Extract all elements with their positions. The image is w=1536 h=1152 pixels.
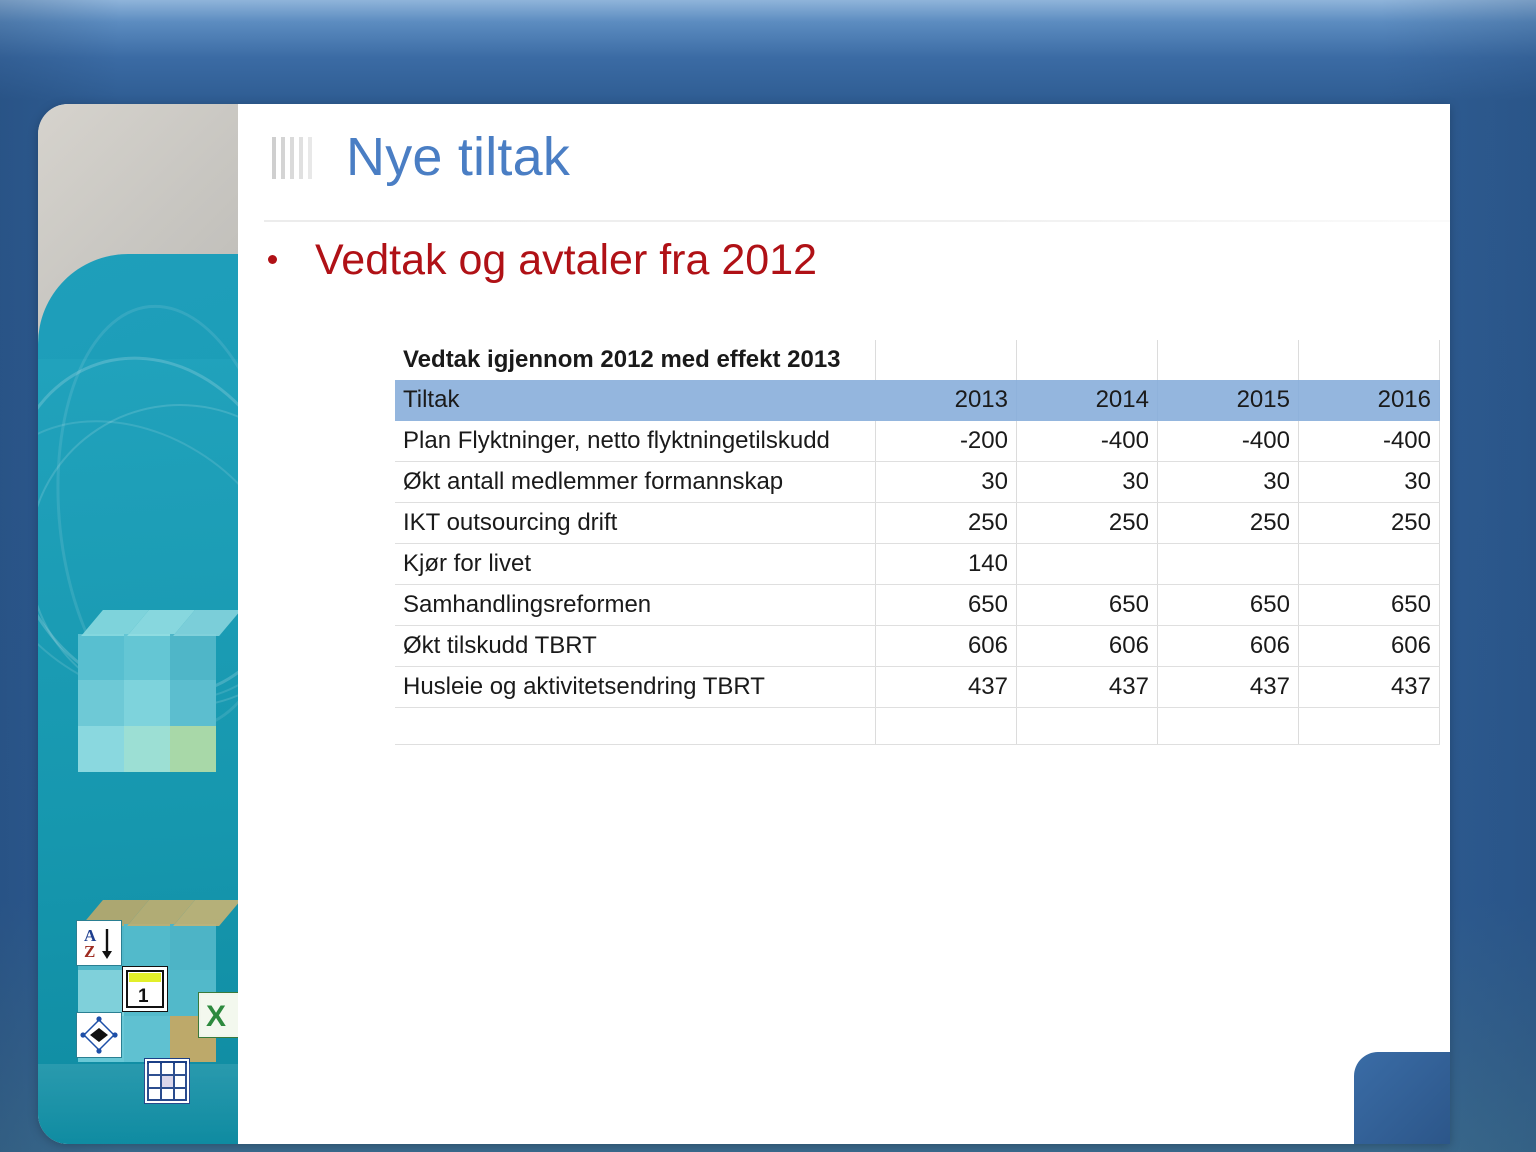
row-value: 437 — [1157, 667, 1298, 708]
row-value: 30 — [1016, 462, 1157, 503]
bullet-item-label: Vedtak og avtaler fra 2012 — [315, 236, 817, 284]
row-value: 650 — [876, 585, 1017, 626]
cube-illustration: A Z 1 — [38, 604, 238, 1144]
svg-text:X: X — [206, 1000, 226, 1033]
cube-reflection — [38, 1064, 238, 1144]
calendar-icon: 1 — [122, 966, 168, 1012]
row-label: Kjør for livet — [395, 544, 876, 585]
row-value: 250 — [1016, 503, 1157, 544]
row-value — [876, 708, 1017, 745]
row-value: -400 — [1016, 421, 1157, 462]
column-header-2016: 2016 — [1298, 380, 1439, 421]
row-label: IKT outsourcing drift — [395, 503, 876, 544]
column-header-2014: 2014 — [1016, 380, 1157, 421]
row-value: 250 — [1157, 503, 1298, 544]
table-row: Husleie og aktivitetsendring TBRT 437 43… — [395, 667, 1440, 708]
row-value: -200 — [876, 421, 1017, 462]
row-value: 606 — [1016, 626, 1157, 667]
row-value: 437 — [1298, 667, 1439, 708]
table-row: IKT outsourcing drift 250 250 250 250 — [395, 503, 1440, 544]
row-value: 30 — [1157, 462, 1298, 503]
table-row: Plan Flyktninger, netto flyktningetilsku… — [395, 421, 1440, 462]
caption-spacer-3 — [1157, 340, 1298, 380]
excel-x-icon: X — [198, 992, 238, 1038]
row-value: 650 — [1157, 585, 1298, 626]
svg-text:Z: Z — [84, 942, 95, 961]
row-label: Samhandlingsreformen — [395, 585, 876, 626]
tick-marks-icon — [272, 137, 312, 179]
row-label: Husleie og aktivitetsendring TBRT — [395, 667, 876, 708]
row-value — [1157, 544, 1298, 585]
row-value: 650 — [1298, 585, 1439, 626]
caption-spacer-1 — [876, 340, 1017, 380]
row-value — [1298, 708, 1439, 745]
row-value: 650 — [1016, 585, 1157, 626]
row-label: Økt antall medlemmer formannskap — [395, 462, 876, 503]
presentation-backdrop: A Z 1 — [0, 0, 1536, 1152]
row-value: 250 — [876, 503, 1017, 544]
row-value: 606 — [1298, 626, 1439, 667]
sort-az-icon: A Z — [76, 920, 122, 966]
measures-table: Vedtak igjennom 2012 med effekt 2013 Til… — [395, 340, 1440, 745]
slide-corner-accent — [1354, 1052, 1450, 1144]
slide-decoration-panel: A Z 1 — [38, 104, 238, 1144]
slide-title-row: Nye tiltak — [272, 112, 570, 202]
table-row: Økt tilskudd TBRT 606 606 606 606 — [395, 626, 1440, 667]
row-value: -400 — [1298, 421, 1439, 462]
table-row — [395, 708, 1440, 745]
table-header-row: Tiltak 2013 2014 2015 2016 — [395, 380, 1440, 421]
bullet-dot-icon — [268, 255, 277, 264]
table-row: Økt antall medlemmer formannskap 30 30 3… — [395, 462, 1440, 503]
caption-spacer-2 — [1016, 340, 1157, 380]
table-row: Kjør for livet 140 — [395, 544, 1440, 585]
row-value: 30 — [1298, 462, 1439, 503]
checker-icon — [76, 1012, 122, 1058]
table-row: Samhandlingsreformen 650 650 650 650 — [395, 585, 1440, 626]
row-value: 437 — [1016, 667, 1157, 708]
caption-spacer-4 — [1298, 340, 1439, 380]
table-caption-row: Vedtak igjennom 2012 med effekt 2013 — [395, 340, 1440, 380]
slide-canvas: A Z 1 — [38, 104, 1450, 1144]
row-value: 30 — [876, 462, 1017, 503]
row-value — [1298, 544, 1439, 585]
row-value: 250 — [1298, 503, 1439, 544]
row-value — [1016, 708, 1157, 745]
table-caption: Vedtak igjennom 2012 med effekt 2013 — [395, 340, 876, 380]
row-value: 606 — [876, 626, 1017, 667]
row-value: 140 — [876, 544, 1017, 585]
svg-text:1: 1 — [138, 986, 149, 1007]
row-value: -400 — [1157, 421, 1298, 462]
title-divider — [264, 220, 1450, 222]
row-label: Plan Flyktninger, netto flyktningetilsku… — [395, 421, 876, 462]
column-header-2013: 2013 — [876, 380, 1017, 421]
measures-table-body: Vedtak igjennom 2012 med effekt 2013 Til… — [395, 340, 1440, 745]
row-value — [1157, 708, 1298, 745]
row-label: Økt tilskudd TBRT — [395, 626, 876, 667]
column-header-tiltak: Tiltak — [395, 380, 876, 421]
bullet-item: Vedtak og avtaler fra 2012 — [268, 236, 817, 284]
row-value: 437 — [876, 667, 1017, 708]
column-header-2015: 2015 — [1157, 380, 1298, 421]
row-value — [1016, 544, 1157, 585]
slide-content: Nye tiltak Vedtak og avtaler fra 2012 Ve… — [238, 104, 1450, 1144]
row-value: 606 — [1157, 626, 1298, 667]
row-label — [395, 708, 876, 745]
page-title: Nye tiltak — [346, 130, 570, 184]
